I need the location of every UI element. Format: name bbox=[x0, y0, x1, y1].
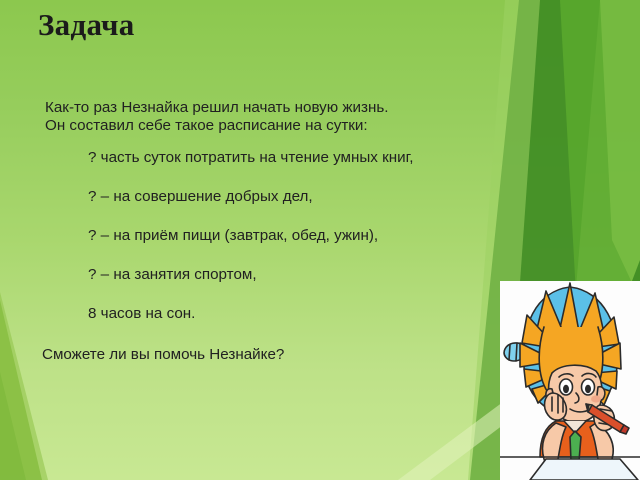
pupil-left bbox=[563, 385, 569, 393]
list-item: 8 часов на сон. bbox=[0, 304, 520, 323]
slide: Задача Как-то раз Незнайка решил начать … bbox=[0, 0, 640, 480]
page-title: Задача bbox=[38, 6, 135, 44]
pupil-right bbox=[585, 385, 591, 393]
list-item: ? – на приём пищи (завтрак, обед, ужин), bbox=[0, 226, 520, 245]
list-item: ? – на совершение добрых дел, bbox=[0, 187, 520, 206]
schedule-list: ? часть суток потратить на чтение умных … bbox=[0, 148, 520, 323]
slide-body: Как-то раз Незнайка решил начать новую ж… bbox=[0, 98, 520, 379]
intro-line-1: Как-то раз Незнайка решил начать новую ж… bbox=[0, 98, 520, 117]
bg-stripe-light-right bbox=[600, 0, 640, 300]
hat-tassel-fold-2 bbox=[516, 343, 517, 361]
paper-sheet bbox=[530, 459, 638, 480]
list-item: ? часть суток потратить на чтение умных … bbox=[0, 148, 520, 167]
cheek-blush bbox=[591, 395, 601, 402]
closing-question: Сможете ли вы помочь Незнайке? bbox=[0, 345, 520, 364]
hat-tassel-fold-1 bbox=[509, 345, 510, 360]
intro-line-2: Он составил себе такое расписание на сут… bbox=[0, 116, 520, 135]
neznayka-at-desk-illustration bbox=[500, 281, 640, 480]
list-item: ? – на занятия спортом, bbox=[0, 265, 520, 284]
